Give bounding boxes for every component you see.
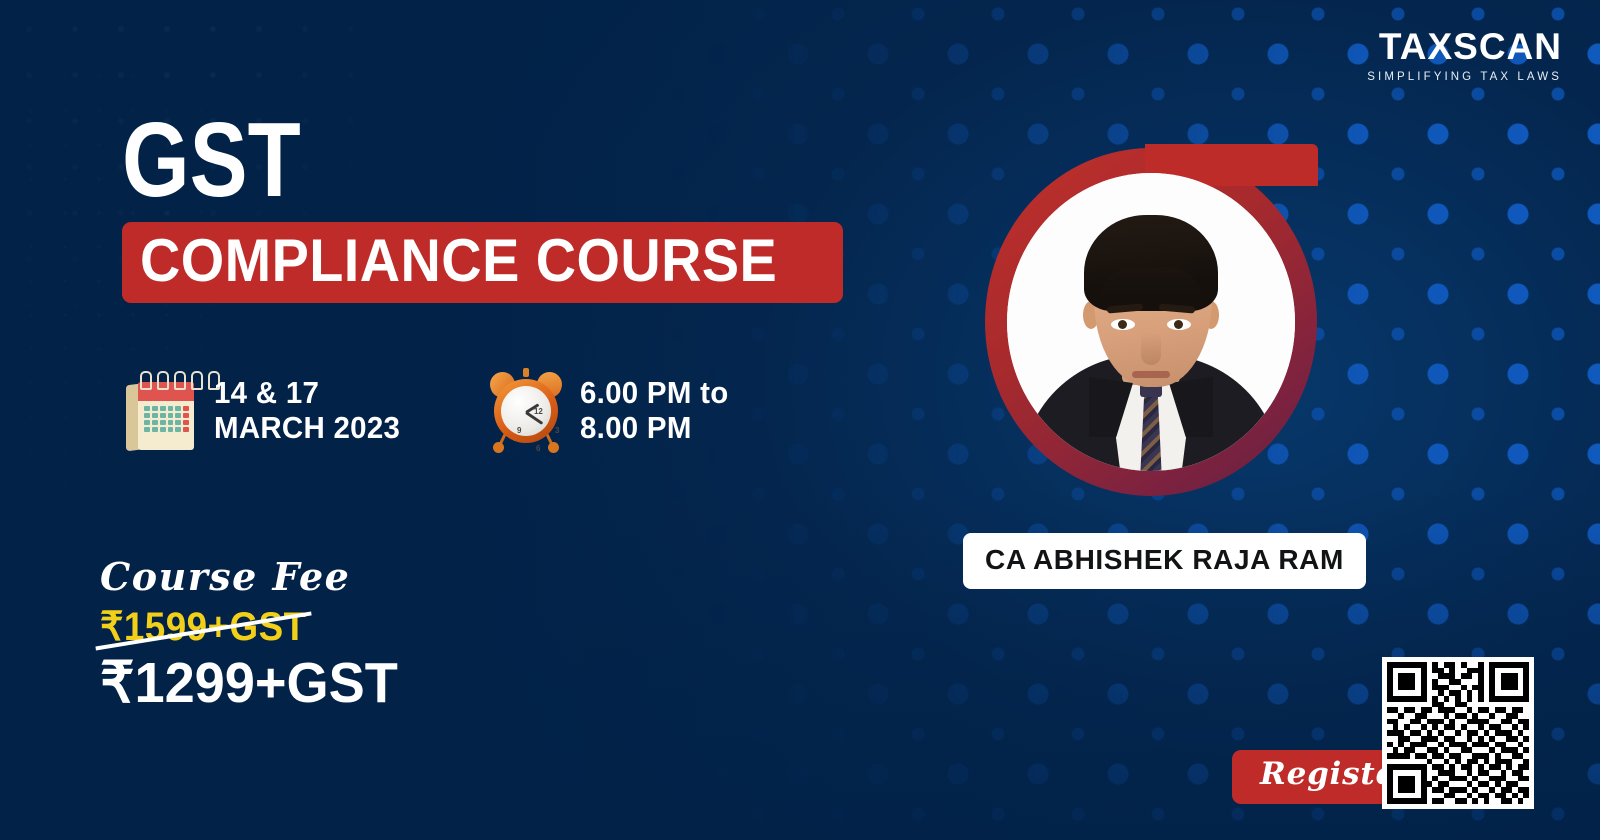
title-banner: COMPLIANCE COURSE — [122, 222, 843, 303]
clock-number-9: 9 — [517, 426, 521, 435]
logo-tagline: SIMPLIFYING TAX LAWS — [1367, 72, 1562, 84]
taxscan-logo: TAXSCAN SIMPLIFYING TAX LAWS — [1367, 28, 1562, 84]
date-item: 14 & 17 MARCH 2023 — [124, 368, 410, 454]
course-fee-block: Course Fee ₹1599+GST ₹1299+GST — [100, 558, 414, 714]
discounted-price: ₹1299+GST — [100, 654, 398, 714]
time-item: 12 3 6 9 6.00 PM to 8.00 PM — [488, 368, 736, 454]
qr-code[interactable] — [1382, 657, 1534, 809]
event-time: 6.00 PM to 8.00 PM — [580, 376, 729, 445]
fee-label: Course Fee — [100, 558, 414, 596]
avatar — [1007, 173, 1295, 471]
alarm-clock-icon: 12 3 6 9 — [488, 368, 564, 454]
event-date: 14 & 17 MARCH 2023 — [214, 376, 400, 445]
promotional-banner: TAXSCAN SIMPLIFYING TAX LAWS GST COMPLIA… — [0, 0, 1600, 840]
schedule-row: 14 & 17 MARCH 2023 12 3 6 9 — [124, 368, 736, 454]
clock-number-3: 3 — [555, 426, 559, 435]
calendar-icon — [124, 368, 198, 454]
clock-number-6: 6 — [536, 444, 540, 453]
page-title: GST — [122, 112, 713, 210]
original-price: ₹1599+GST — [100, 606, 307, 648]
course-title-block: GST COMPLIANCE COURSE — [122, 112, 843, 303]
page-subtitle: COMPLIANCE COURSE — [140, 231, 777, 291]
qr-code-matrix — [1387, 662, 1529, 804]
logo-wordmark: TAXSCAN — [1367, 28, 1562, 65]
speaker-name: CA ABHISHEK RAJA RAM — [985, 544, 1344, 576]
speaker-name-badge: CA ABHISHEK RAJA RAM — [963, 533, 1366, 589]
speaker-portrait — [985, 148, 1317, 496]
